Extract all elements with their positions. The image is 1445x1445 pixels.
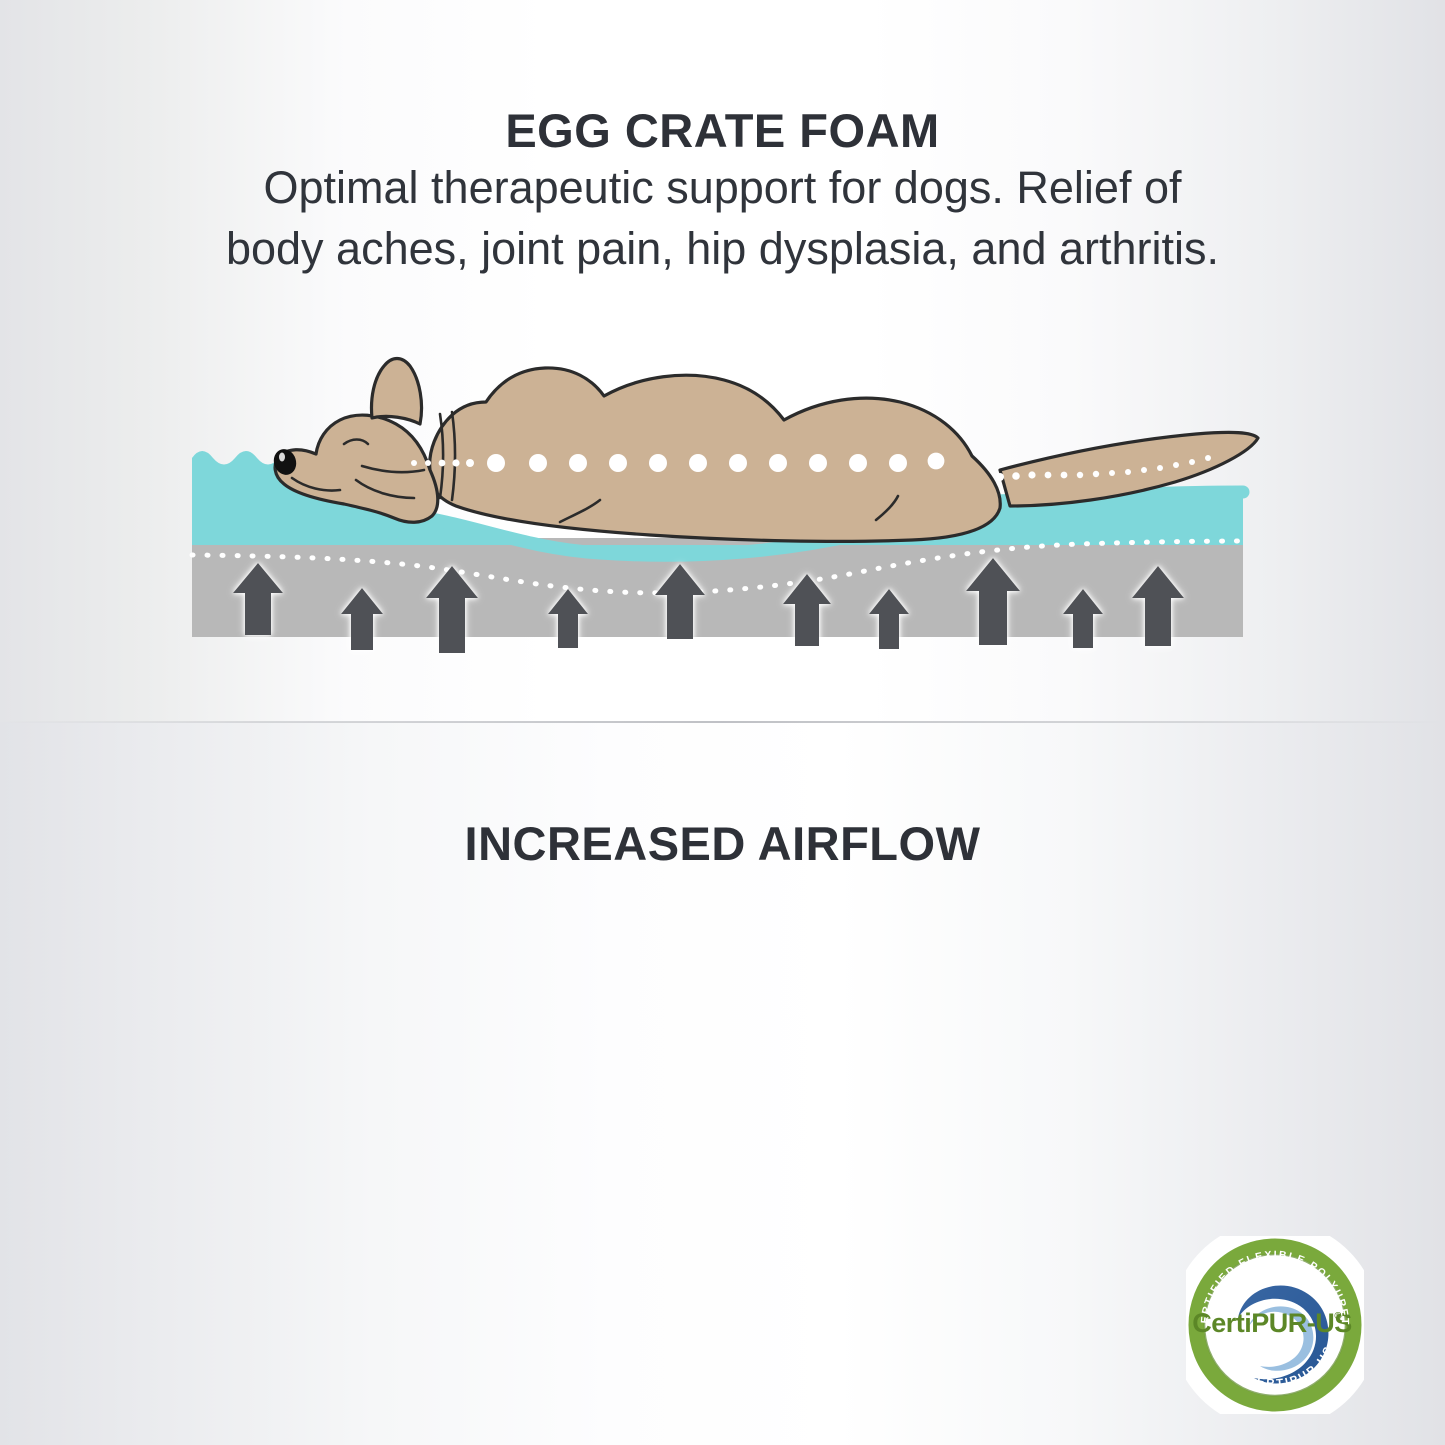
badge-brand-wordmark: CertiPUR-US ® xyxy=(1192,1308,1352,1338)
egg-crate-cross-section-illustration xyxy=(0,0,1445,722)
panel-divider xyxy=(0,721,1445,723)
infographic-root: EGG CRATE FOAM Optimal therapeutic suppo… xyxy=(0,0,1445,1445)
page-title-increased-airflow: INCREASED AIRFLOW xyxy=(0,816,1445,871)
panel-egg-crate-foam: EGG CRATE FOAM Optimal therapeutic suppo… xyxy=(0,0,1445,722)
badge-brand-text: CertiPUR-US xyxy=(1192,1308,1352,1338)
certipur-us-badge: CertiPUR-US ® CONTAINS CERTIFIED FLEXIBL… xyxy=(1186,1236,1364,1414)
